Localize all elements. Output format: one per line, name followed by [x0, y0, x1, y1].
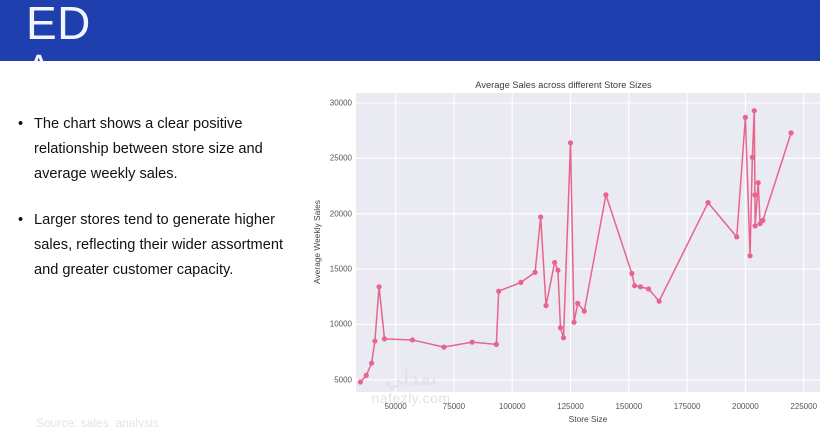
- chart-title: Average Sales across different Store Siz…: [307, 80, 820, 90]
- chart-y-tick: 25000: [307, 154, 352, 163]
- chart-x-tick: 200000: [732, 402, 759, 411]
- chart-y-tick: 30000: [307, 98, 352, 107]
- chart-plot-area: [356, 93, 820, 392]
- list-item: • The chart shows a clear positive relat…: [12, 112, 304, 187]
- chart-y-tick: 15000: [307, 265, 352, 274]
- header-band: [0, 0, 820, 61]
- footer-note: Source: sales_analysis: [36, 416, 159, 427]
- list-item: • Larger stores tend to generate higher …: [12, 208, 304, 283]
- bullet-text: The chart shows a clear positive relatio…: [34, 116, 263, 182]
- chart-y-tick: 10000: [307, 320, 352, 329]
- page-subtitle: A: [26, 47, 51, 61]
- chart-x-axis-label: Store Size: [569, 414, 608, 424]
- bullet-marker-icon: •: [18, 112, 23, 137]
- page-title: ED: [26, 0, 91, 50]
- chart-x-tick: 100000: [499, 402, 526, 411]
- chart-x-tick: 125000: [557, 402, 584, 411]
- header-clip: ED A: [0, 0, 820, 61]
- chart-x-tick: 50000: [385, 402, 407, 411]
- chart-series-line: [358, 108, 794, 385]
- chart-x-tick: 150000: [615, 402, 642, 411]
- chart-x-tick: 175000: [674, 402, 701, 411]
- chart-figure: Average Sales across different Store Siz…: [307, 70, 820, 427]
- chart-y-tick: 5000: [307, 375, 352, 384]
- bullet-text: Larger stores tend to generate higher sa…: [34, 212, 283, 278]
- slide-canvas: ED A • The chart shows a clear positive …: [0, 0, 820, 427]
- bullet-list: • The chart shows a clear positive relat…: [12, 112, 304, 304]
- chart-x-tick: 225000: [790, 402, 817, 411]
- chart-y-tick: 20000: [307, 209, 352, 218]
- chart-plot-svg: [356, 93, 820, 392]
- chart-x-tick: 75000: [443, 402, 465, 411]
- bullet-marker-icon: •: [18, 208, 23, 233]
